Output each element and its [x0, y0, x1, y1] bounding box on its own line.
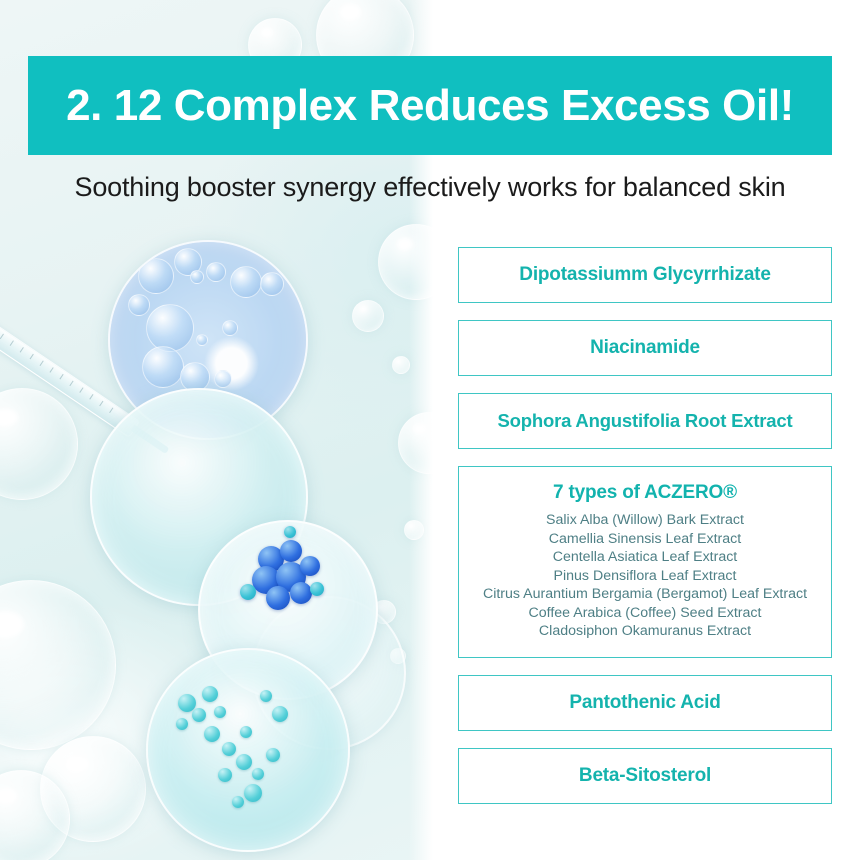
page-title: 2. 12 Complex Reduces Excess Oil! [66, 81, 794, 131]
ingredient-label: Beta-Sitosterol [579, 765, 711, 787]
ingredient-list: Dipotassiumm Glycyrrhizate Niacinamide S… [458, 247, 832, 821]
ingredient-label: Niacinamide [590, 337, 700, 359]
ingredient-label: Dipotassiumm Glycyrrhizate [519, 264, 770, 286]
petri-dish [146, 648, 350, 852]
bubble-icon [404, 520, 424, 540]
aczero-item: Centella Asiatica Leaf Extract [465, 548, 825, 567]
ingredient-box-pantothenic-acid[interactable]: Pantothenic Acid [458, 675, 832, 731]
subtitle: Soothing booster synergy effectively wor… [0, 172, 860, 203]
aczero-item: Salix Alba (Willow) Bark Extract [465, 511, 825, 530]
bubble-icon [392, 356, 410, 374]
bubble-icon [378, 224, 435, 300]
bubble-icon [398, 412, 435, 474]
ingredient-box-sophora-angustifolia-root-extract[interactable]: Sophora Angustifolia Root Extract [458, 393, 832, 449]
ingredient-label: Pantothenic Acid [569, 692, 720, 714]
aczero-item: Pinus Densiflora Leaf Extract [465, 567, 825, 586]
bubble-icon [0, 580, 116, 750]
aczero-heading: 7 types of ACZERO® [553, 482, 737, 504]
bubble-icon [352, 300, 384, 332]
ingredient-box-dipotassium-glycyrrhizate[interactable]: Dipotassiumm Glycyrrhizate [458, 247, 832, 303]
infographic-page: 2. 12 Complex Reduces Excess Oil! Soothi… [0, 0, 860, 860]
aczero-item: Citrus Aurantium Bergamia (Bergamot) Lea… [465, 585, 825, 604]
ingredient-box-niacinamide[interactable]: Niacinamide [458, 320, 832, 376]
aczero-item: Coffee Arabica (Coffee) Seed Extract [465, 604, 825, 623]
aczero-item-list: Salix Alba (Willow) Bark Extract Camelli… [465, 511, 825, 641]
ingredient-label: Sophora Angustifolia Root Extract [498, 410, 793, 432]
headline-banner: 2. 12 Complex Reduces Excess Oil! [28, 56, 832, 155]
aczero-item: Camellia Sinensis Leaf Extract [465, 530, 825, 549]
aczero-item: Cladosiphon Okamuranus Extract [465, 622, 825, 641]
ingredient-box-beta-sitosterol[interactable]: Beta-Sitosterol [458, 748, 832, 804]
ingredient-box-aczero[interactable]: 7 types of ACZERO® Salix Alba (Willow) B… [458, 466, 832, 658]
bubble-icon [0, 388, 78, 500]
